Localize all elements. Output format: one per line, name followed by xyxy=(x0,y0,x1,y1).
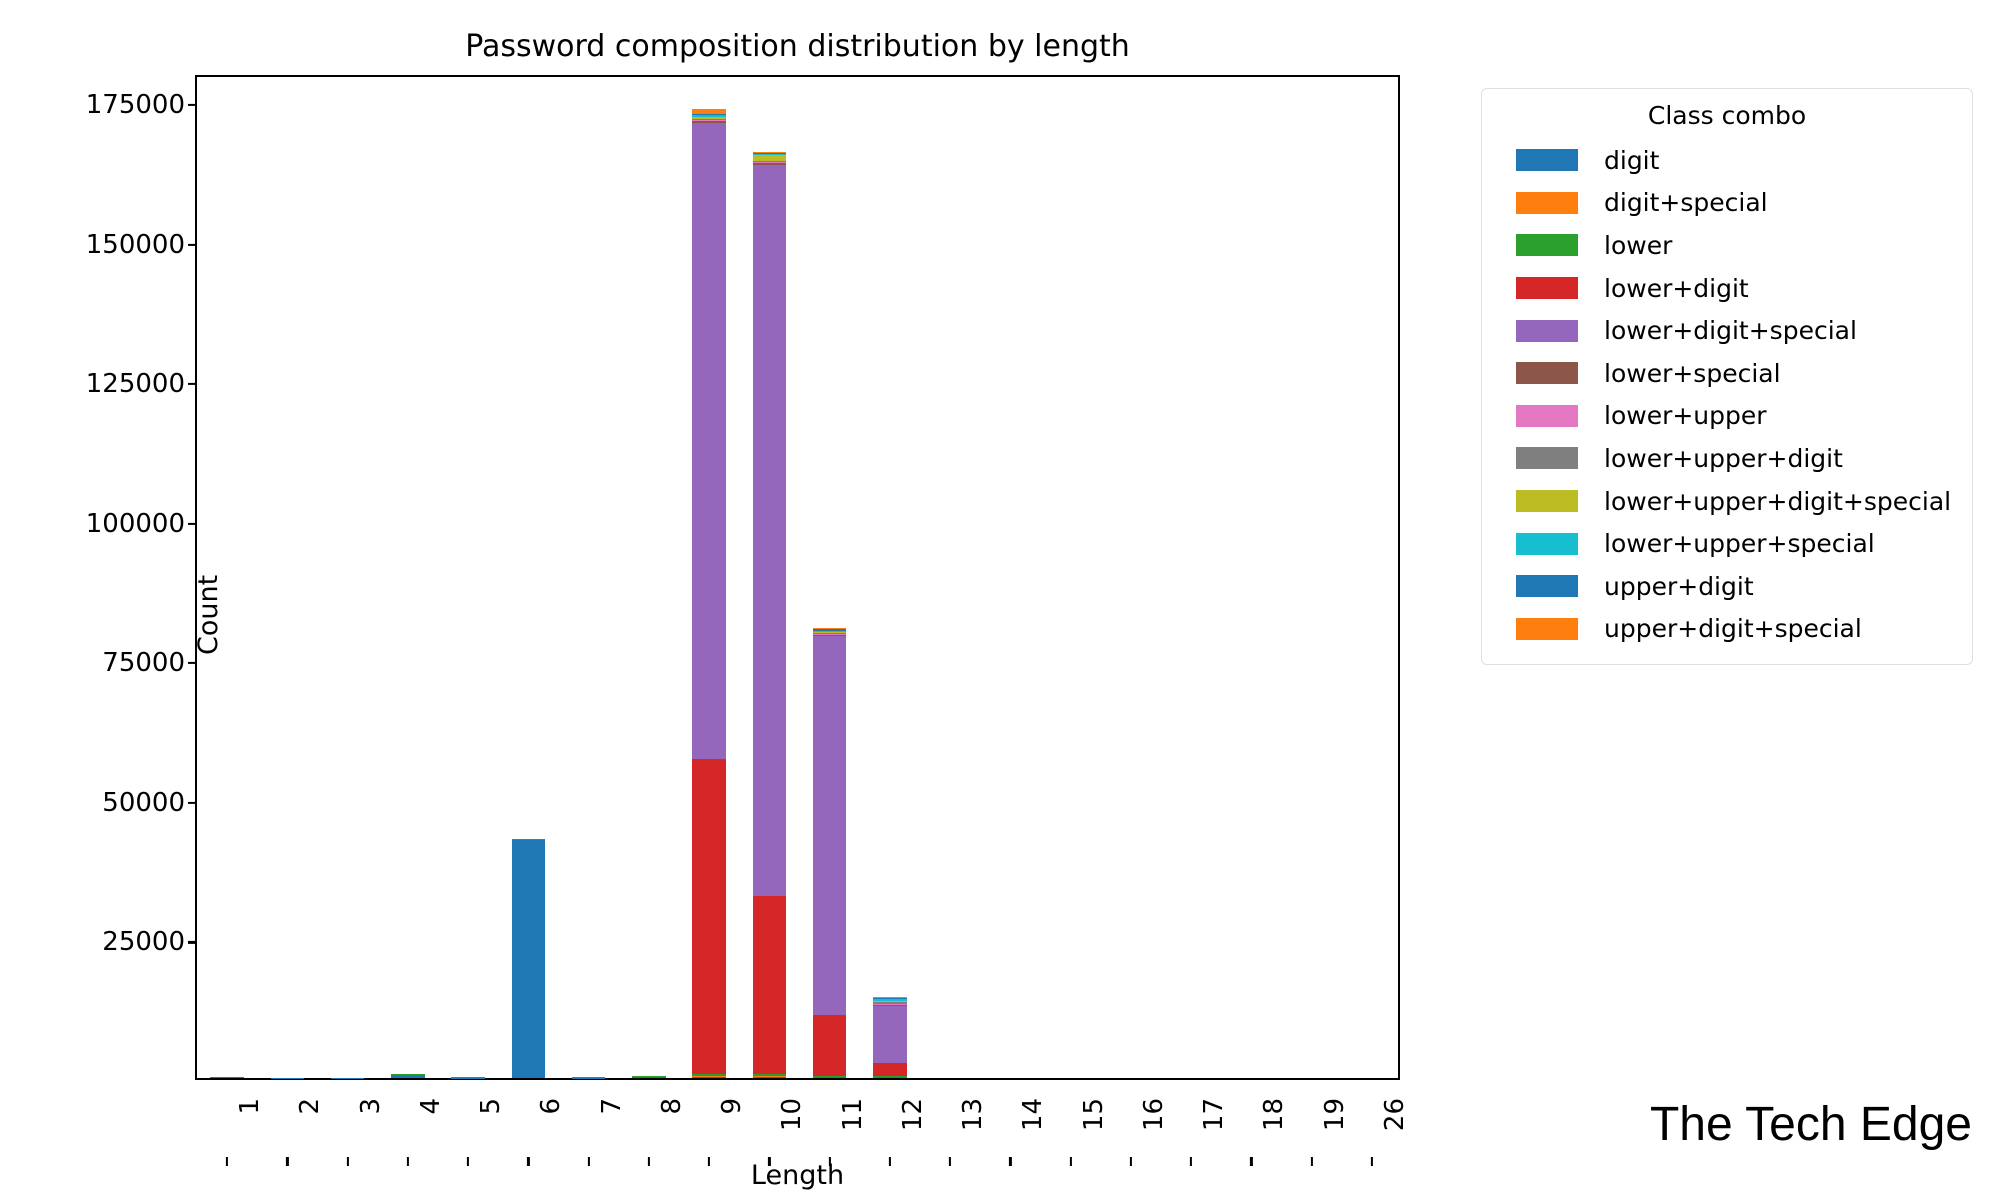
legend-item[interactable]: upper+digit xyxy=(1496,565,1958,608)
y-axis-tick-mark xyxy=(188,662,197,664)
legend-swatch-icon xyxy=(1516,447,1578,469)
legend-swatch-icon xyxy=(1516,362,1578,384)
x-axis-tick-label: 2 xyxy=(295,1098,325,1115)
y-axis-tick-mark xyxy=(188,243,197,245)
legend-title: Class combo xyxy=(1496,101,1958,130)
legend-item-label: upper+digit+special xyxy=(1604,614,1862,643)
legend-item-label: lower+upper+special xyxy=(1604,529,1875,558)
bar-segment xyxy=(873,1006,907,1063)
figure-canvas: Password composition distribution by len… xyxy=(0,0,2000,1200)
legend-item-label: lower+special xyxy=(1604,359,1781,388)
legend-item-label: lower+upper+digit xyxy=(1604,444,1843,473)
bar-segment xyxy=(873,1063,907,1076)
bar-stack xyxy=(391,1074,425,1078)
bar-stack xyxy=(451,1077,485,1078)
x-axis-tick-label: 7 xyxy=(597,1098,627,1115)
legend-item-label: lower+upper+digit+special xyxy=(1604,487,1951,516)
bar-segment xyxy=(632,1077,666,1078)
y-axis-tick-label: 100000 xyxy=(15,509,185,539)
legend: Class combo digitdigit+speciallowerlower… xyxy=(1481,88,1973,665)
x-axis-tick-label: 16 xyxy=(1139,1098,1169,1131)
legend-item-label: upper+digit xyxy=(1604,572,1754,601)
legend-item-label: digit+special xyxy=(1604,188,1768,217)
bar-segment xyxy=(692,1077,726,1078)
legend-item-label: lower+digit xyxy=(1604,274,1749,303)
plot-axes: Count 2500050000750001000001250001500001… xyxy=(195,75,1400,1080)
x-axis-tick-label: 15 xyxy=(1079,1098,1109,1131)
legend-item[interactable]: lower+upper+digit+special xyxy=(1496,480,1958,523)
x-axis-tick-label: 5 xyxy=(476,1098,506,1115)
legend-item[interactable]: upper+digit+special xyxy=(1496,608,1958,651)
legend-item[interactable]: lower+upper xyxy=(1496,395,1958,438)
legend-swatch-icon xyxy=(1516,320,1578,342)
page-title: Password composition distribution by len… xyxy=(195,30,1400,63)
x-axis-tick-label: 6 xyxy=(536,1098,566,1115)
bar-stack xyxy=(512,839,546,1078)
legend-swatch-icon xyxy=(1516,277,1578,299)
legend-item[interactable]: lower+special xyxy=(1496,352,1958,395)
x-axis-tick-label: 12 xyxy=(898,1098,928,1131)
y-axis-tick-mark xyxy=(188,104,197,106)
legend-item[interactable]: lower xyxy=(1496,224,1958,267)
legend-swatch-icon xyxy=(1516,192,1578,214)
legend-swatch-icon xyxy=(1516,234,1578,256)
legend-swatch-icon xyxy=(1516,533,1578,555)
y-axis-tick-mark xyxy=(188,383,197,385)
plot-area xyxy=(197,77,1398,1078)
bar-stack xyxy=(632,1076,666,1078)
watermark: The Tech Edge xyxy=(1650,1097,1972,1152)
x-axis-tick-label: 11 xyxy=(838,1098,868,1131)
legend-item[interactable]: lower+upper+special xyxy=(1496,522,1958,565)
bar-segment xyxy=(391,1075,425,1078)
legend-swatch-icon xyxy=(1516,618,1578,640)
x-axis-tick-label: 3 xyxy=(356,1098,386,1115)
bar-segment xyxy=(692,759,726,1075)
x-axis-tick-label: 14 xyxy=(1018,1098,1048,1131)
legend-item[interactable]: digit+special xyxy=(1496,182,1958,225)
x-axis-tick-label: 8 xyxy=(657,1098,687,1115)
bar-segment xyxy=(753,1077,787,1078)
legend-item-label: lower xyxy=(1604,231,1672,260)
y-axis-tick-label: 25000 xyxy=(15,927,185,957)
legend-item[interactable]: lower+digit xyxy=(1496,267,1958,310)
bar-stack xyxy=(813,628,847,1078)
bar-segment xyxy=(210,1077,244,1078)
x-axis-tick-label: 9 xyxy=(717,1098,747,1115)
x-axis-tick-label: 10 xyxy=(777,1098,807,1131)
legend-item-label: lower+upper xyxy=(1604,401,1767,430)
bar-segment xyxy=(813,1077,847,1078)
bar-stack xyxy=(692,109,726,1078)
bar-segment xyxy=(813,1015,847,1076)
bar-segment xyxy=(753,165,787,896)
legend-item-label: lower+digit+special xyxy=(1604,316,1857,345)
x-axis-tick-label: 4 xyxy=(416,1098,446,1115)
x-axis-tick-label: 13 xyxy=(958,1098,988,1131)
bar-segment xyxy=(692,123,726,759)
y-axis-label: Count xyxy=(193,575,224,655)
bar-segment xyxy=(753,896,787,1074)
bar-stack xyxy=(331,1078,365,1079)
legend-item[interactable]: digit xyxy=(1496,139,1958,182)
y-axis-tick-mark xyxy=(188,802,197,804)
legend-swatch-icon xyxy=(1516,490,1578,512)
bar-stack xyxy=(873,997,907,1078)
y-axis-tick-label: 150000 xyxy=(15,230,185,260)
y-axis-tick-mark xyxy=(188,523,197,525)
legend-swatch-icon xyxy=(1516,575,1578,597)
bar-segment xyxy=(512,840,546,1078)
bar-stack xyxy=(210,1077,244,1078)
bar-stack xyxy=(753,151,787,1078)
y-axis-tick-mark xyxy=(188,941,197,943)
legend-swatch-icon xyxy=(1516,149,1578,171)
y-axis-tick-label: 125000 xyxy=(15,369,185,399)
y-axis-tick-label: 50000 xyxy=(15,788,185,818)
bar-segment xyxy=(873,1077,907,1078)
bar-segment xyxy=(813,636,847,1014)
legend-item[interactable]: lower+digit+special xyxy=(1496,309,1958,352)
x-axis-tick-label: 26 xyxy=(1380,1098,1410,1131)
legend-item[interactable]: lower+upper+digit xyxy=(1496,437,1958,480)
x-axis-tick-label: 18 xyxy=(1259,1098,1289,1131)
x-axis-tick-label: 1 xyxy=(235,1098,265,1115)
legend-rows: digitdigit+speciallowerlower+digitlower+… xyxy=(1496,139,1958,650)
legend-swatch-icon xyxy=(1516,405,1578,427)
bar-stack xyxy=(572,1077,606,1078)
y-axis-tick-label: 75000 xyxy=(15,648,185,678)
bar-segment xyxy=(572,1078,606,1079)
x-axis-tick-label: 19 xyxy=(1320,1098,1350,1131)
bar-segment xyxy=(331,1078,365,1079)
x-axis-label: Length xyxy=(195,1160,1400,1191)
y-axis-tick-label: 175000 xyxy=(15,90,185,120)
x-axis-tick-label: 17 xyxy=(1199,1098,1229,1131)
legend-item-label: digit xyxy=(1604,146,1659,175)
